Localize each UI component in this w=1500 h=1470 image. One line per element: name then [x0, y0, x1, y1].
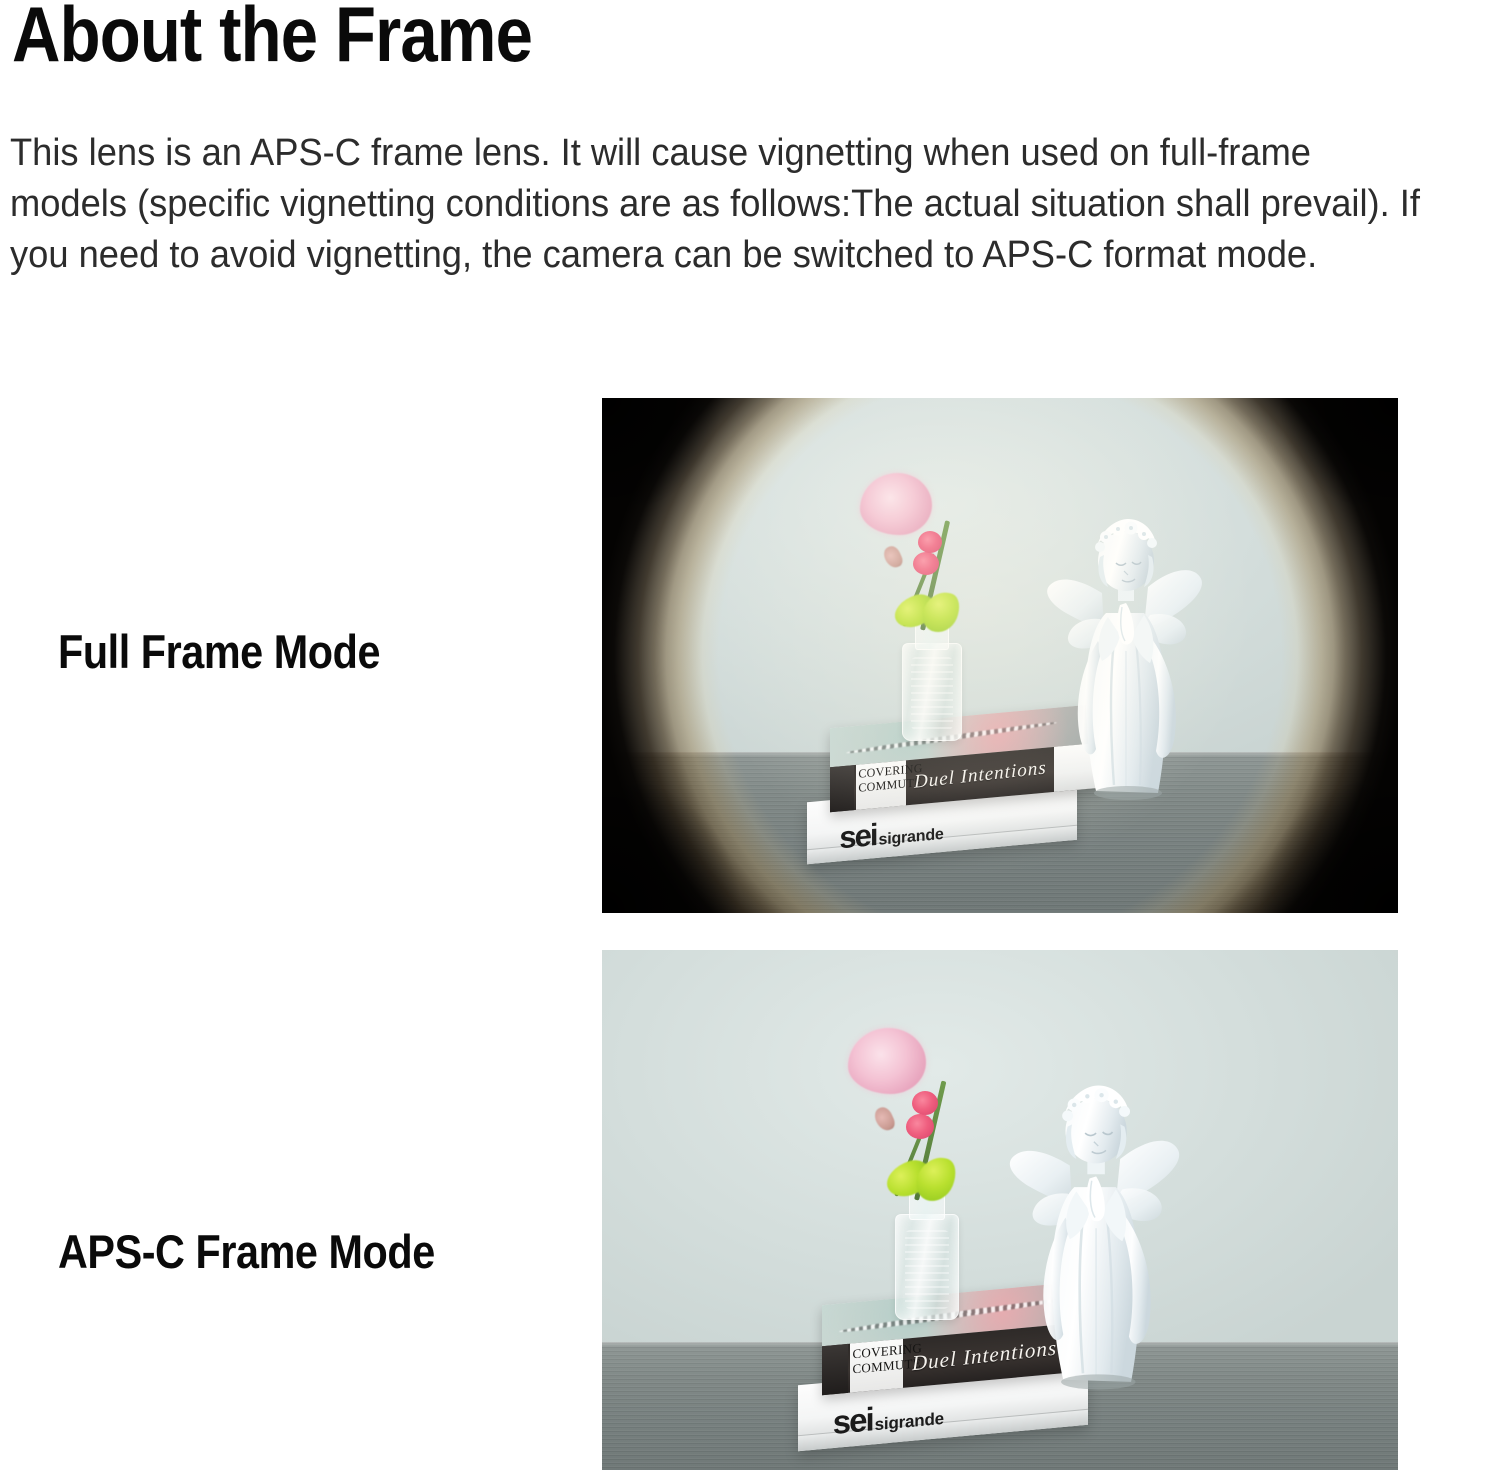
book-brand-main: sei — [833, 1401, 873, 1443]
pink-carnation — [860, 473, 932, 535]
book-spine-label: COVERING COMMUTE — [858, 764, 901, 795]
glass-vase — [902, 643, 962, 741]
photo-apsc-frame-mode: sei sigrande COVERING COMMUTE Duel Inten… — [602, 950, 1398, 1470]
page-title: About the Frame — [12, 0, 532, 76]
angel-figurine — [1002, 1066, 1188, 1396]
book-brand-sub: sigrande — [879, 826, 944, 850]
spine-dark-block — [830, 765, 854, 813]
scene-apsc-frame: sei sigrande COVERING COMMUTE Duel Inten… — [602, 950, 1398, 1470]
rose-lower — [913, 552, 939, 575]
rose-upper — [912, 1091, 938, 1115]
glass-vase — [895, 1214, 959, 1320]
book-title-script: Duel Intentions — [914, 757, 1047, 793]
book-spine-label: COVERING COMMUTE — [852, 1343, 898, 1376]
spine-dark-block — [822, 1344, 848, 1395]
scene-full-frame: sei sigrande COVERING COMMUTE Duel Inten… — [602, 398, 1398, 913]
rose-upper — [918, 531, 942, 553]
pink-carnation — [848, 1028, 926, 1094]
label-full-frame-mode: Full Frame Mode — [58, 628, 380, 675]
photo-full-frame-mode: sei sigrande COVERING COMMUTE Duel Inten… — [602, 398, 1398, 913]
backdrop-wall — [602, 950, 1398, 1342]
intro-paragraph: This lens is an APS-C frame lens. It wil… — [10, 128, 1435, 281]
book-brand-main: sei — [839, 817, 876, 856]
angel-figurine — [1040, 501, 1210, 806]
book-brand-sub: sigrande — [875, 1409, 944, 1435]
backdrop-wall — [602, 398, 1398, 752]
label-apsc-frame-mode: APS-C Frame Mode — [58, 1228, 435, 1275]
rose-lower — [906, 1114, 934, 1139]
